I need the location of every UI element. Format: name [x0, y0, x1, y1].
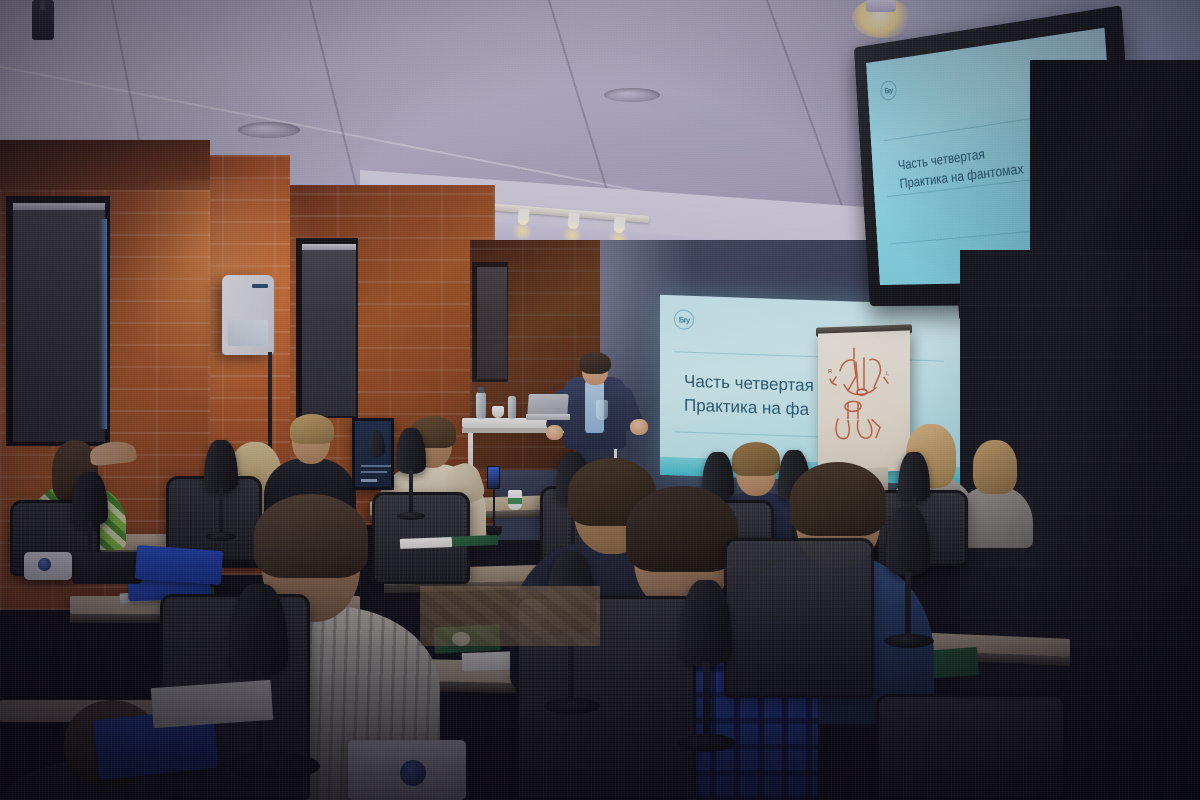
lamp-neck	[409, 470, 413, 516]
chair[interactable]	[876, 694, 1066, 800]
lamp-neck	[219, 488, 223, 536]
wall-air-purifier[interactable]	[222, 275, 274, 355]
bottle-cap	[478, 387, 484, 393]
lamp-shade	[204, 440, 238, 492]
track-spot-lamp	[613, 217, 625, 234]
window-far	[472, 262, 508, 382]
track-spot-lamp	[517, 209, 529, 226]
attendee-hair	[290, 414, 334, 444]
flipchart-tooth-sketch-icon: R L	[818, 330, 910, 473]
blackout-blind[interactable]	[13, 210, 105, 442]
presenter-laptop-screen[interactable]	[527, 394, 569, 416]
blind-headrail	[13, 203, 105, 210]
presenter-hand-right	[630, 419, 648, 435]
lamp-shade	[396, 428, 426, 474]
poster-text-line	[361, 479, 377, 482]
attendee-hair	[973, 440, 1017, 494]
lamp-base	[206, 532, 236, 541]
svg-text:L: L	[886, 371, 890, 377]
attendee-hair	[732, 442, 780, 476]
attendee-hair	[254, 494, 368, 578]
chair[interactable]	[724, 538, 874, 698]
lamp-shade	[886, 506, 930, 576]
lamp-shade	[680, 580, 732, 666]
water-bottle[interactable]	[476, 392, 486, 420]
window-middle	[296, 238, 358, 418]
drinking-glass[interactable]	[596, 400, 608, 420]
purifier-front-panel	[228, 320, 268, 346]
presenter-laptop-keyboard[interactable]	[526, 414, 570, 420]
floor-parquet	[420, 586, 600, 646]
white-tray	[151, 680, 273, 728]
blackout-blind[interactable]	[477, 267, 507, 379]
tripod-stem	[493, 489, 495, 529]
lamp-shade	[72, 472, 108, 526]
track-spot-lamp	[567, 213, 579, 230]
attendee-hair	[626, 486, 738, 572]
slide-line-2: Практика на фа	[684, 394, 814, 423]
lamp-neck	[703, 662, 710, 742]
window-left	[6, 196, 110, 446]
lamp-base	[397, 512, 425, 520]
lamp-shade	[230, 584, 288, 676]
purifier-display	[252, 284, 268, 288]
poster-lamp-icon	[369, 431, 385, 457]
lamp-base	[228, 752, 320, 780]
lamp-base	[678, 734, 736, 752]
seminar-room-photograph: Бгу Часть четвертая Практика на фа	[0, 0, 1200, 800]
dental-unit-dial[interactable]	[38, 558, 51, 571]
flipchart-easel: R L	[818, 330, 910, 473]
coffee-cup[interactable]	[492, 406, 504, 418]
lamp-shade	[898, 452, 930, 502]
lamp-base	[544, 698, 600, 714]
poster-text-line	[361, 465, 391, 467]
presenter-hair	[579, 352, 611, 374]
ceiling-downlight	[866, 0, 896, 12]
poster-text-line	[361, 471, 387, 473]
wall-speaker-bracket	[40, 0, 45, 10]
smartphone-screen[interactable]	[487, 466, 500, 489]
lamp-base	[884, 634, 934, 648]
dark-brick-column-upper	[1030, 60, 1200, 270]
notebook-paper[interactable]	[400, 537, 452, 549]
attendee-hair	[790, 462, 886, 536]
window-edge-glow	[99, 219, 107, 429]
ceiling-speaker-icon	[604, 88, 660, 102]
presenter-hand-left	[546, 425, 563, 440]
blue-conference-tote[interactable]	[135, 545, 223, 585]
lamp-neck	[905, 572, 911, 640]
ceiling-vent-icon	[238, 122, 300, 138]
phone-on-tripod-recording[interactable]	[486, 466, 502, 536]
black-handbag[interactable]	[72, 552, 142, 584]
water-bottle[interactable]	[508, 396, 516, 420]
blackout-blind[interactable]	[302, 250, 356, 416]
slide-logo-icon: Бгу	[674, 309, 694, 330]
cup-green-band	[508, 498, 522, 504]
framed-lamp-poster	[352, 418, 394, 490]
projector-slide-title: Часть четвертая Практика на фа	[684, 370, 814, 423]
dental-unit-dial[interactable]	[400, 760, 426, 786]
svg-text:R: R	[828, 369, 833, 375]
